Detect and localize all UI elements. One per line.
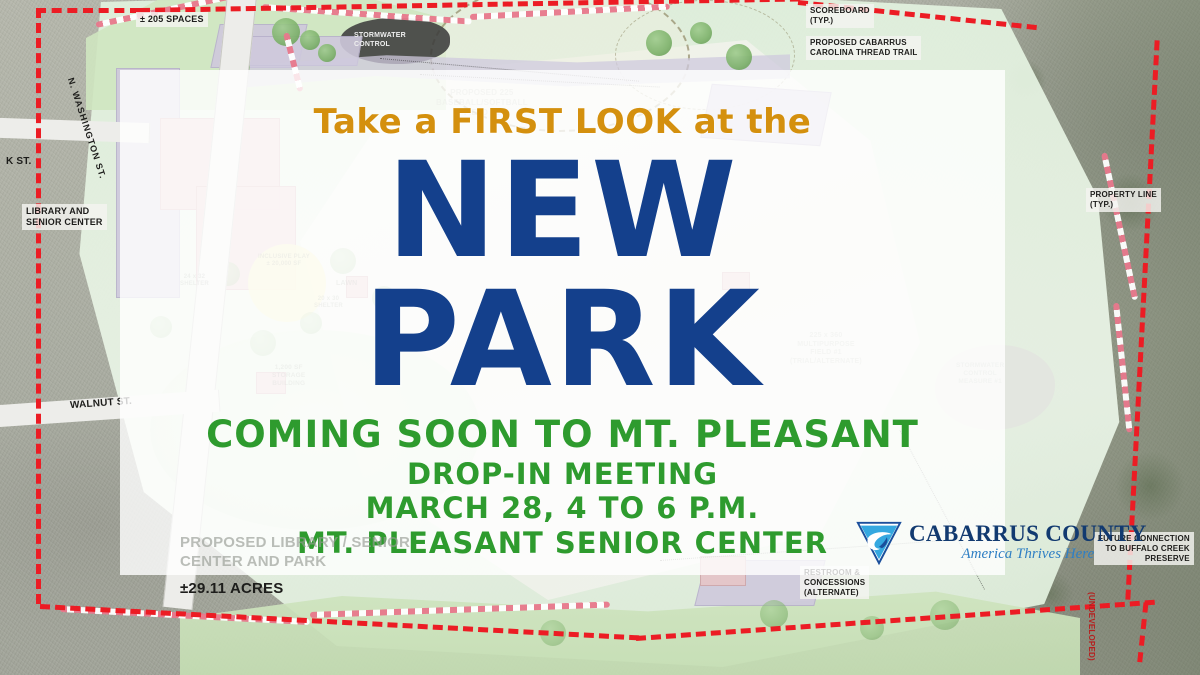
callout-scoreboard: SCOREBOARD (TYP.) (806, 4, 874, 28)
callout-street-park: K ST. (2, 154, 35, 170)
callout-undeveloped: (UNDEVELOPED) (1084, 588, 1098, 665)
tree-symbol (318, 44, 336, 62)
callout-acreage: ±29.11 ACRES (176, 578, 287, 600)
callout-proposed-library-park: PROPOSED LIBRARY / SENIOR CENTER AND PAR… (176, 532, 414, 574)
tree-symbol (690, 22, 712, 44)
callout-stormwater-control-top: STORMWATER CONTROL (350, 30, 410, 51)
callout-parking-spaces: ± 205 SPACES (136, 12, 208, 27)
detail-meeting-type: DROP-IN MEETING (120, 457, 1005, 491)
tree-symbol (726, 44, 752, 70)
headline-new: NEW (120, 148, 1005, 275)
cabarrus-county-logo: CABARRUS COUNTY America Thrives Here (855, 518, 1147, 566)
triangle-swoosh-icon (855, 518, 903, 566)
detail-coming-soon: COMING SOON TO MT. PLEASANT (120, 415, 1005, 454)
tree-symbol (300, 30, 320, 50)
poster-canvas: ± 205 SPACES STORMWATER CONTROL PROPOSED… (0, 0, 1200, 675)
property-line-west (36, 8, 41, 604)
logo-tagline: America Thrives Here (909, 547, 1147, 562)
callout-library-senior-center: LIBRARY AND SENIOR CENTER (22, 204, 107, 230)
logo-name: CABARRUS COUNTY (909, 522, 1147, 545)
logo-text-group: CABARRUS COUNTY America Thrives Here (909, 522, 1147, 562)
callout-thread-trail: PROPOSED CABARRUS CAROLINA THREAD TRAIL (806, 36, 921, 60)
callout-property-line: PROPERTY LINE (TYP.) (1086, 188, 1161, 212)
tree-symbol (760, 600, 788, 628)
property-line-north-a (36, 8, 140, 13)
headline-block: Take a FIRST LOOK at the NEW PARK (120, 70, 1005, 403)
tree-symbol (646, 30, 672, 56)
headline-park: PARK (120, 277, 1005, 404)
